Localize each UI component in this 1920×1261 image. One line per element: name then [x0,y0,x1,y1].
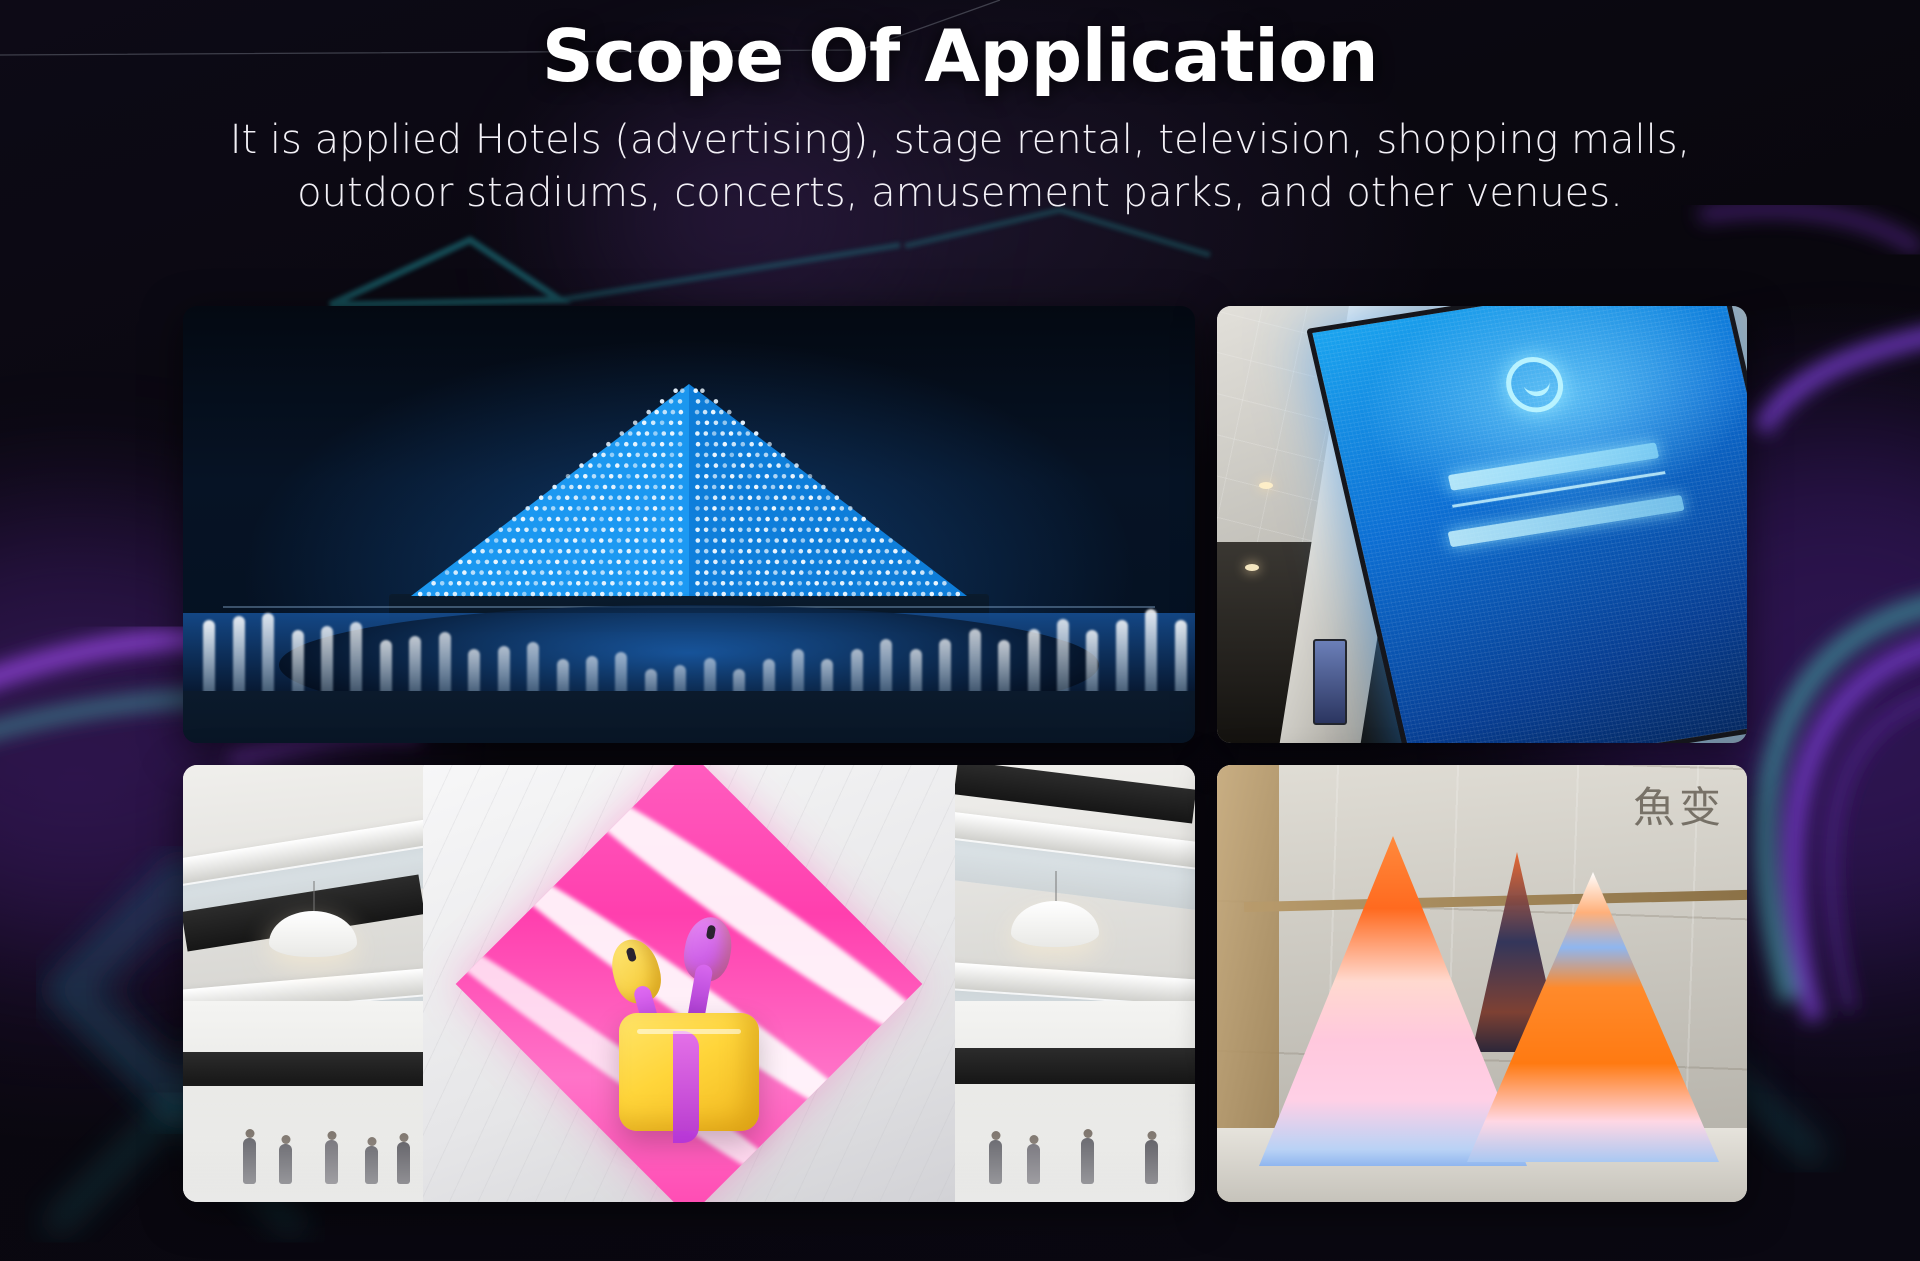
paved-deck [183,691,1195,743]
mall-right-wing [955,765,1195,1202]
subtitle-line-2: outdoor stadiums, concerts, amusement pa… [140,167,1780,220]
pyramid-led-dot-matrix [409,384,969,598]
header: Scope Of Application It is applied Hotel… [0,0,1920,220]
charging-case-side [673,1031,699,1143]
teal-geometry-top [330,210,1210,305]
gallery-item-shopping-mall-diamond[interactable] [183,765,1195,1202]
earbud-mic [626,947,638,963]
mall-dark-fascia [183,1052,423,1086]
page-subtitle: It is applied Hotels (advertising), stag… [140,114,1780,220]
image-gallery: 魚变 [183,306,1747,1206]
gallery-item-triangular-led-displays[interactable]: 魚变 [1217,765,1747,1202]
fountain-jets [183,588,1195,708]
marble-feature-wall [423,765,955,1202]
polished-floor-glow [955,1082,1195,1202]
earbud-mic [706,925,716,940]
neon-ribbon-right [1760,330,1920,1020]
wall-chinese-characters: 魚变 [1633,787,1725,829]
slide-root: Scope Of Application It is applied Hotel… [0,0,1920,1261]
ceiling-downlight [1245,564,1259,571]
mall-left-wing [183,765,423,1202]
lobby-info-kiosk [1313,639,1347,725]
mall-dark-fascia [955,765,1195,823]
ceiling-downlight [1259,482,1273,489]
pendant-lamp [1011,901,1099,947]
gallery-item-lobby-led-screen[interactable] [1217,306,1747,743]
mall-dark-fascia [955,1048,1195,1084]
subtitle-line-1: It is applied Hotels (advertising), stag… [140,114,1780,167]
charging-case [619,1013,759,1131]
gallery-item-led-pyramid-fountain[interactable] [183,306,1195,743]
polished-floor-glow [183,1082,423,1202]
page-title: Scope Of Application [0,14,1920,98]
